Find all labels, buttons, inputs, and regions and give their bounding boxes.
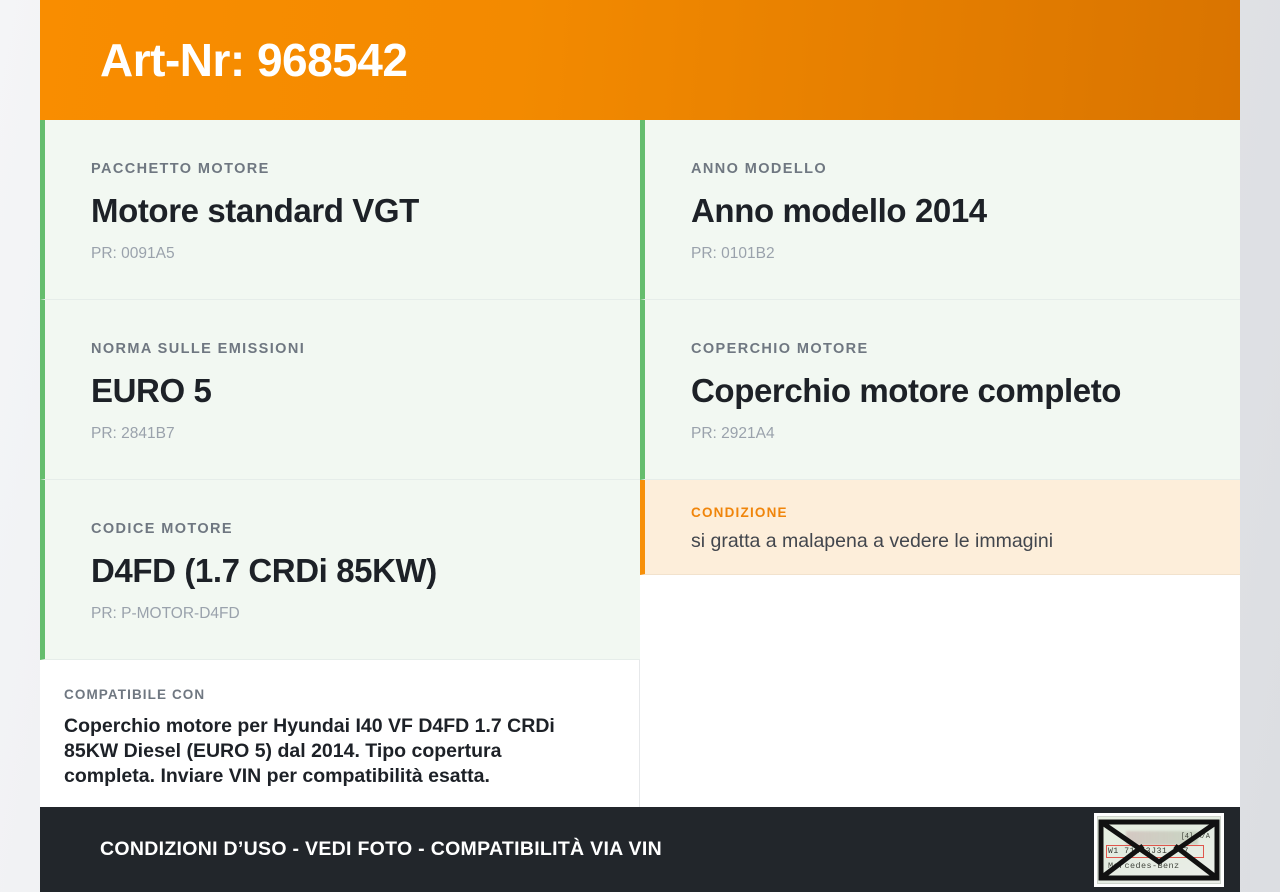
spec-cell-norma-emissioni: NORMA SULLE EMISSIONI EURO 5 PR: 2841B7 <box>40 300 640 480</box>
spec-label: ANNO MODELLO <box>691 162 1194 177</box>
footer-note: CONDIZIONI D’USO - VEDI FOTO - COMPATIBI… <box>100 838 662 861</box>
vin-text: W1 71463J31 3 7 <box>1108 847 1189 856</box>
spec-pr-code: PR: 0101B2 <box>691 246 1194 262</box>
condition-text: si gratta a malapena a vedere le immagin… <box>691 530 1194 553</box>
spec-pr-code: PR: 0091A5 <box>91 246 594 262</box>
page-title: Art-Nr: 968542 <box>100 37 407 83</box>
spec-cell-coperchio-motore: COPERCHIO MOTORE Coperchio motore comple… <box>640 300 1240 480</box>
condition-cell: CONDIZIONE si gratta a malapena a vedere… <box>640 480 1240 575</box>
registration-document-image: Fahrgestellnr. [4] A/A W1 71463J31 3 7 M… <box>1097 816 1221 884</box>
spec-label: NORMA SULLE EMISSIONI <box>91 342 594 357</box>
spec-grid: PACCHETTO MOTORE Motore standard VGT PR:… <box>40 120 1240 660</box>
spec-value: Motore standard VGT <box>91 193 594 229</box>
spec-value: EURO 5 <box>91 373 594 409</box>
spec-label: PACCHETTO MOTORE <box>91 162 594 177</box>
spec-value: Coperchio motore completo <box>691 373 1194 409</box>
spec-value: Anno modello 2014 <box>691 193 1194 229</box>
spec-pr-code: PR: 2841B7 <box>91 426 594 442</box>
vin-document-thumbnail[interactable]: Fahrgestellnr. [4] A/A W1 71463J31 3 7 M… <box>1094 813 1224 887</box>
doc-brand: Mercedes-Benz <box>1108 861 1180 871</box>
compatibility-text: Coperchio motore per Hyundai I40 VF D4FD… <box>64 714 579 790</box>
spec-cell-codice-motore: CODICE MOTORE D4FD (1.7 CRDi 85KW) PR: P… <box>40 480 640 660</box>
condition-label: CONDIZIONE <box>691 506 1194 520</box>
compatibility-block: COMPATIBILE CON Coperchio motore per Hyu… <box>40 660 640 807</box>
spec-label: CODICE MOTORE <box>91 522 594 537</box>
spec-pr-code: PR: 2921A4 <box>691 426 1194 442</box>
spec-cell-anno-modello: ANNO MODELLO Anno modello 2014 PR: 0101B… <box>640 120 1240 300</box>
compatibility-label: COMPATIBILE CON <box>64 688 579 702</box>
doc-tag: [4] A/A <box>1181 833 1210 841</box>
listing-header: Art-Nr: 968542 <box>40 0 1240 120</box>
spec-pr-code: PR: P-MOTOR-D4FD <box>91 606 594 622</box>
spec-cell-pacchetto-motore: PACCHETTO MOTORE Motore standard VGT PR:… <box>40 120 640 300</box>
spec-label: COPERCHIO MOTORE <box>691 342 1194 357</box>
doc-caption: Fahrgestellnr. <box>1103 820 1144 825</box>
compatibility-area: COMPATIBILE CON Coperchio motore per Hyu… <box>40 660 1240 807</box>
spec-value: D4FD (1.7 CRDi 85KW) <box>91 553 594 589</box>
listing-footer: CONDIZIONI D’USO - VEDI FOTO - COMPATIBI… <box>40 807 1240 892</box>
listing-card: Art-Nr: 968542 PACCHETTO MOTORE Motore s… <box>40 0 1240 892</box>
compatibility-empty-column <box>640 660 1240 807</box>
